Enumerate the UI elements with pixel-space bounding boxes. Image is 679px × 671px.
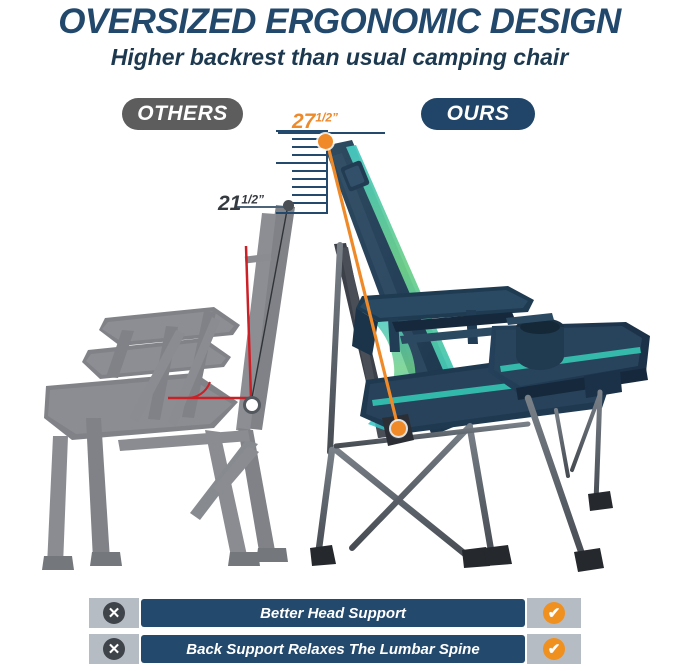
ours-cell: ✔: [527, 634, 581, 664]
ruler-tick: [292, 170, 326, 172]
measurement-others-value: 21: [218, 192, 241, 215]
ours-bottom-marker-dot: [391, 421, 406, 436]
ruler-tick: [292, 202, 326, 204]
comparison-row: ✕ Better Head Support ✔: [89, 598, 581, 628]
check-icon: ✔: [543, 602, 565, 624]
measurement-ours-fraction: 1/2: [315, 111, 332, 125]
ruler-tick: [292, 186, 326, 188]
measurement-others: 211/2”: [218, 192, 264, 216]
measurement-ours: 271/2”: [292, 110, 338, 134]
ours-chair-illustration: [0, 0, 679, 671]
cross-icon: ✕: [103, 638, 125, 660]
comparison-row: ✕ Back Support Relaxes The Lumbar Spine …: [89, 634, 581, 664]
others-cell: ✕: [89, 634, 139, 664]
others-pivot-marker: [243, 396, 261, 414]
cross-icon: ✕: [103, 602, 125, 624]
measurement-ours-unit: ”: [332, 111, 338, 125]
feature-label: Better Head Support: [141, 599, 525, 627]
ruler-tick: [292, 154, 326, 156]
measurement-others-fraction: 1/2: [241, 193, 258, 207]
measurement-others-unit: ”: [258, 193, 264, 207]
ruler-tick: [292, 178, 326, 180]
feature-label: Back Support Relaxes The Lumbar Spine: [141, 635, 525, 663]
ours-top-marker-dot: [318, 134, 333, 149]
ruler-tick: [292, 194, 326, 196]
others-top-marker-dot: [283, 200, 294, 211]
check-icon: ✔: [543, 638, 565, 660]
infographic-canvas: OVERSIZED ERGONOMIC DESIGN Higher backre…: [0, 0, 679, 671]
ruler-tick: [276, 212, 326, 214]
ours-cell: ✔: [527, 598, 581, 628]
measurement-ours-value: 27: [292, 110, 315, 133]
others-cell: ✕: [89, 598, 139, 628]
ruler-tick: [276, 162, 326, 164]
